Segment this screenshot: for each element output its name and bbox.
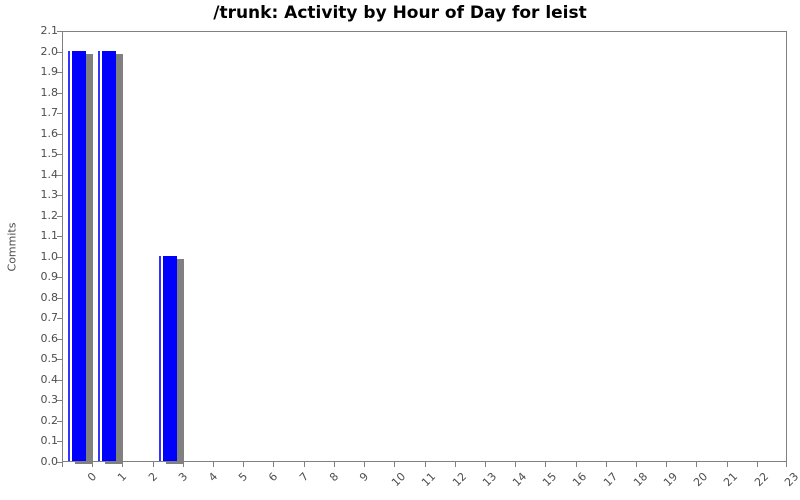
x-axis-tick-label: 11 (419, 470, 438, 489)
y-axis-tick-label: 0.7 (18, 312, 58, 323)
x-axis-tick-mark (273, 462, 274, 467)
x-axis-tick-label: 6 (266, 470, 280, 484)
y-axis-tick-labels: 0.00.10.20.30.40.50.60.70.80.91.01.11.21… (10, 0, 58, 500)
x-axis-tick-label: 23 (782, 470, 800, 489)
bar[interactable] (98, 51, 120, 461)
y-axis-tick-label: 1.8 (18, 87, 58, 98)
x-axis-tick-label: 21 (722, 470, 741, 489)
x-axis-tick-label: 8 (327, 470, 341, 484)
y-axis-tick-label: 0.9 (18, 271, 58, 282)
chart-root: /trunk: Activity by Hour of Day for leis… (0, 0, 800, 500)
x-axis-tick-mark (786, 462, 787, 467)
bar[interactable] (68, 51, 90, 461)
x-axis-tick-mark (606, 462, 607, 467)
x-axis-tick-label: 2 (146, 470, 160, 484)
x-axis-tick-label: 10 (389, 470, 408, 489)
x-axis-tick-mark (757, 462, 758, 467)
plot-area (62, 31, 787, 462)
x-axis-tick-mark (243, 462, 244, 467)
y-axis-tick-label: 1.7 (18, 107, 58, 118)
x-axis-tick-mark (666, 462, 667, 467)
bar-fill (102, 51, 116, 461)
x-axis-tick-label: 16 (571, 470, 590, 489)
y-axis-tick-label: 1.2 (18, 210, 58, 221)
y-axis-tick-label: 0.2 (18, 415, 58, 426)
x-axis-tick-label: 18 (631, 470, 650, 489)
bar-edge (98, 51, 100, 461)
y-axis-tick-label: 0.4 (18, 374, 58, 385)
y-axis-tick-label: 2.1 (18, 25, 58, 36)
y-axis-tick-label: 2.0 (18, 46, 58, 57)
x-axis-tick-label: 5 (236, 470, 250, 484)
y-axis-tick-label: 0.6 (18, 333, 58, 344)
x-axis-tick-label: 19 (661, 470, 680, 489)
bar-edge (68, 51, 70, 461)
x-axis-tick-mark (636, 462, 637, 467)
x-axis-tick-label: 4 (206, 470, 220, 484)
x-axis-tick-label: 15 (540, 470, 559, 489)
chart-title: /trunk: Activity by Hour of Day for leis… (0, 3, 800, 23)
bar-fill (72, 51, 86, 461)
x-axis-tick-mark (183, 462, 184, 467)
x-axis-tick-mark (485, 462, 486, 467)
y-axis-tick-label: 1.4 (18, 169, 58, 180)
y-axis-tick-label: 0.3 (18, 394, 58, 405)
y-axis-tick-label: 0.5 (18, 353, 58, 364)
x-axis-tick-mark (122, 462, 123, 467)
x-axis-tick-label: 9 (357, 470, 371, 484)
bar-fill (163, 256, 177, 461)
x-axis-tick-mark (696, 462, 697, 467)
x-axis-tick-label: 0 (85, 470, 99, 484)
x-axis-tick-mark (62, 462, 63, 467)
x-axis-tick-mark (455, 462, 456, 467)
x-axis-tick-label: 17 (601, 470, 620, 489)
x-axis-tick-label: 1 (115, 470, 129, 484)
x-axis-tick-label: 20 (691, 470, 710, 489)
y-axis-tick-label: 0.0 (18, 456, 58, 467)
x-axis-tick-mark (576, 462, 577, 467)
x-axis-tick-mark (545, 462, 546, 467)
x-axis-tick-mark (334, 462, 335, 467)
bar[interactable] (159, 256, 181, 461)
x-axis-tick-label: 13 (480, 470, 499, 489)
y-axis-tick-label: 1.6 (18, 128, 58, 139)
y-axis-tick-label: 1.0 (18, 251, 58, 262)
bar-edge (159, 256, 161, 461)
x-axis-tick-mark (425, 462, 426, 467)
x-axis-tick-mark (213, 462, 214, 467)
x-axis-tick-mark (364, 462, 365, 467)
x-axis-tick-label: 12 (450, 470, 469, 489)
y-axis-tick-label: 1.1 (18, 230, 58, 241)
x-axis-tick-label: 7 (297, 470, 311, 484)
y-axis-tick-label: 0.1 (18, 435, 58, 446)
x-axis-tick-label: 3 (176, 470, 190, 484)
y-axis-tick-label: 0.8 (18, 292, 58, 303)
y-axis-tick-label: 1.5 (18, 148, 58, 159)
x-axis-tick-mark (394, 462, 395, 467)
x-axis-tick-mark (727, 462, 728, 467)
x-axis-tick-label: 22 (752, 470, 771, 489)
x-axis-tick-label: 14 (510, 470, 529, 489)
y-axis-tick-label: 1.3 (18, 189, 58, 200)
y-axis-tick-label: 1.9 (18, 66, 58, 77)
x-axis-tick-mark (515, 462, 516, 467)
x-axis-tick-mark (153, 462, 154, 467)
x-axis-tick-mark (92, 462, 93, 467)
x-axis-tick-mark (304, 462, 305, 467)
